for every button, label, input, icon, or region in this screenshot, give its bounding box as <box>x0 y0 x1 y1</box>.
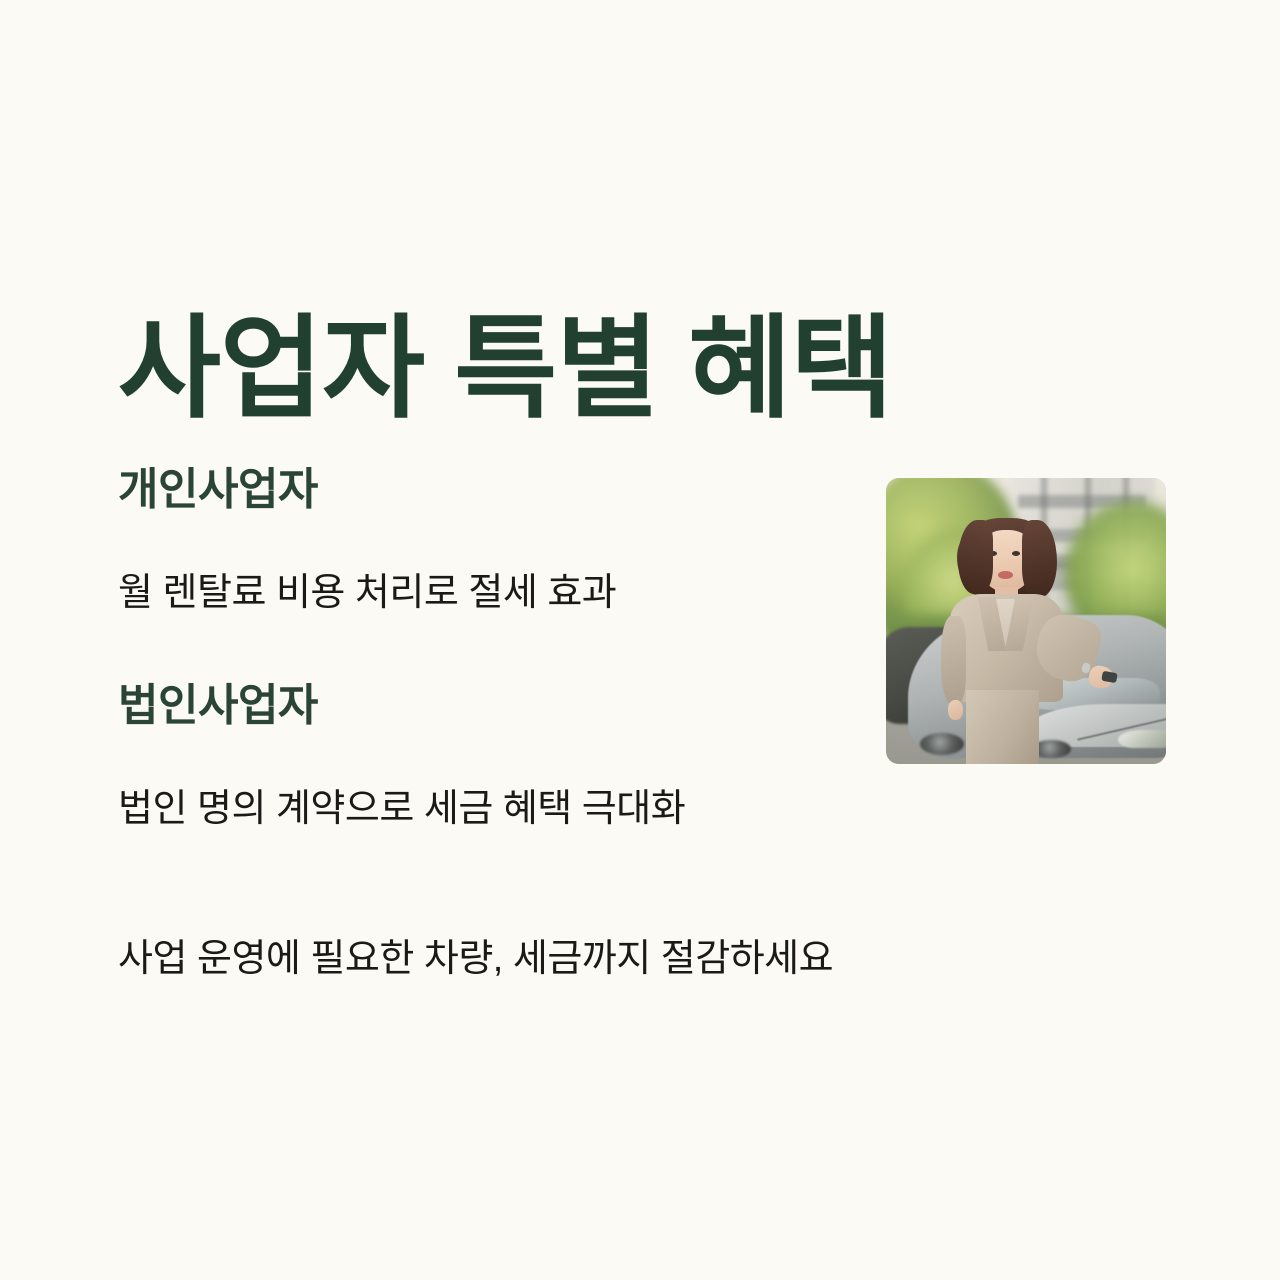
photo-illustration <box>886 478 1166 764</box>
spacer <box>118 733 858 785</box>
page-title: 사업자 특별 혜택 <box>118 303 893 435</box>
section-heading-corporate: 법인사업자 <box>118 678 858 733</box>
footer-tagline: 사업 운영에 필요한 차량, 세금까지 절감하세요 <box>118 935 858 984</box>
promo-slide: 사업자 특별 혜택 개인사업자 월 렌탈료 비용 처리로 절세 효과 법인사업자… <box>0 0 1280 1280</box>
photo-car-headlight <box>1118 730 1166 749</box>
section-heading-individual: 개인사업자 <box>118 462 858 517</box>
photo-woman <box>948 518 1066 764</box>
photo-woman-hair-front <box>1022 520 1057 596</box>
photo-woman-arm-left <box>941 616 967 705</box>
spacer <box>118 517 858 569</box>
photo-car-keyfob <box>1101 670 1118 682</box>
photo-woman-hand-left <box>948 700 963 720</box>
photo-woman-skirt <box>966 690 1039 764</box>
section-body-corporate: 법인 명의 계약으로 세금 혜택 극대화 <box>118 785 858 834</box>
section-body-individual: 월 렌탈료 비용 처리로 절세 효과 <box>118 569 858 618</box>
content-column: 개인사업자 월 렌탈료 비용 처리로 절세 효과 법인사업자 법인 명의 계약으… <box>118 462 858 984</box>
spacer <box>118 835 858 935</box>
hero-photo <box>886 478 1166 764</box>
spacer <box>118 618 858 678</box>
photo-woman-hair-front <box>958 520 993 594</box>
photo-woman-mouth <box>998 571 1013 579</box>
